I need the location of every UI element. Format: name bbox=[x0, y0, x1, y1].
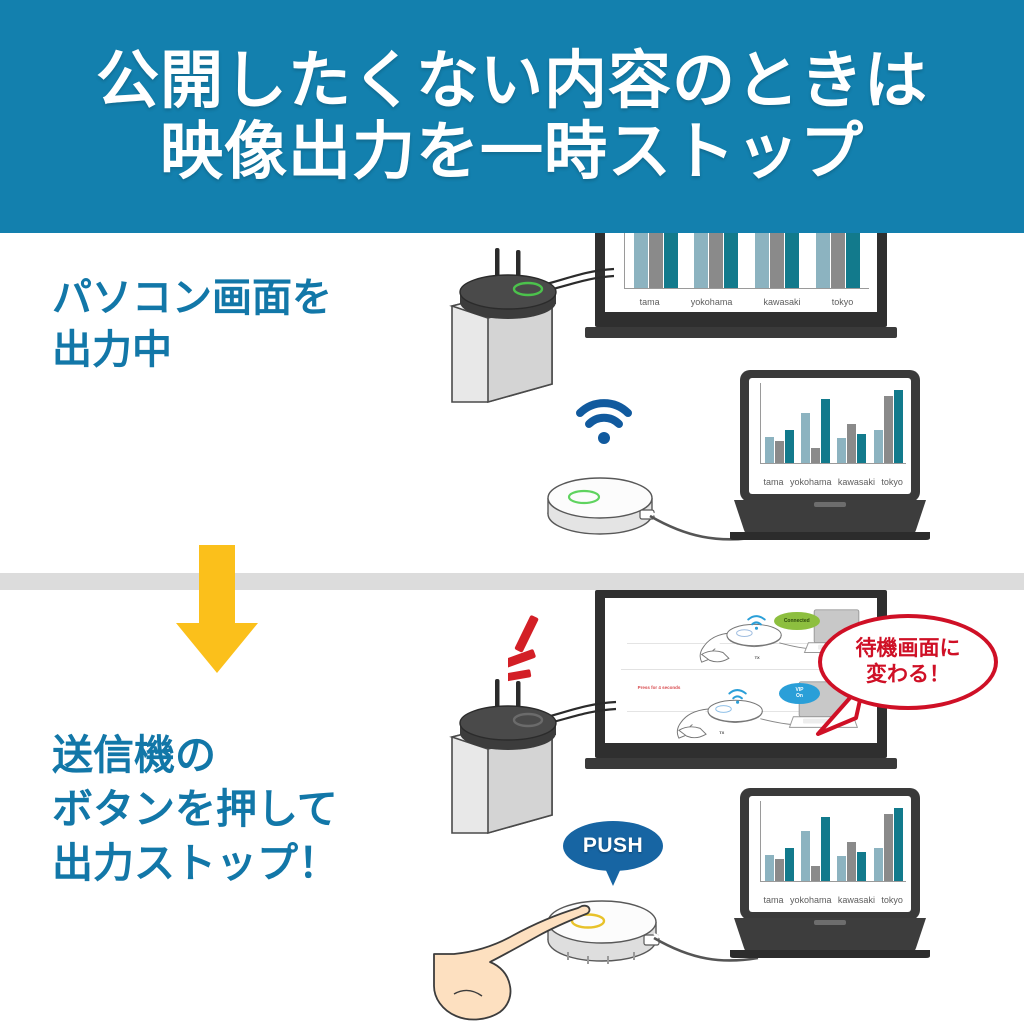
chart-x-tick-label: tokyo bbox=[881, 477, 903, 487]
chart-plot-area bbox=[760, 801, 906, 882]
badge-connected-label: Connected bbox=[784, 619, 810, 624]
chart-x-tick-label: tama bbox=[764, 477, 784, 487]
chart-bar bbox=[821, 817, 830, 880]
chart-bar bbox=[649, 228, 663, 289]
caption-top-line-2: 出力中 bbox=[52, 324, 332, 376]
projection-screen-stand bbox=[585, 327, 897, 338]
chart-bar bbox=[765, 855, 774, 881]
chart-bar bbox=[884, 396, 893, 463]
section-divider bbox=[0, 573, 1024, 590]
red-speech-bubble: 待機画面に 変わる！ bbox=[818, 614, 998, 710]
chart-bar bbox=[837, 856, 846, 881]
chart-bar-group bbox=[837, 383, 866, 463]
chart-bar bbox=[857, 852, 866, 881]
chart-plot-area bbox=[624, 228, 869, 290]
push-bubble: PUSH bbox=[563, 821, 663, 871]
caption-top-line-1: パソコン画面を bbox=[52, 272, 332, 324]
laptop-display-bottom: tamayokohamakawasakitokyo bbox=[749, 796, 911, 912]
laptop-display-top: tamayokohamakawasakitokyo bbox=[749, 378, 911, 494]
chart-x-tick-label: yokohama bbox=[790, 477, 832, 487]
chart-bar-group bbox=[801, 801, 830, 881]
chart-bar-group bbox=[874, 801, 903, 881]
chart-bar bbox=[847, 842, 856, 881]
chart-bar bbox=[884, 814, 893, 881]
chart-bar-group bbox=[765, 801, 794, 881]
chart-x-tick-label: tokyo bbox=[832, 297, 854, 307]
laptop-bar-chart: tamayokohamakawasakitokyo bbox=[749, 796, 911, 912]
chart-x-tick-label: tama bbox=[640, 297, 660, 307]
chart-bar bbox=[831, 228, 845, 289]
chart-bar-group bbox=[874, 383, 903, 463]
chart-x-tick-label: tama bbox=[764, 895, 784, 905]
caption-bottom-line-2: ボタンを押して bbox=[52, 782, 339, 836]
chart-bar bbox=[709, 228, 723, 289]
chart-x-tick-label: kawasaki bbox=[764, 297, 801, 307]
header-title-line-2: 映像出力を一時ストップ bbox=[160, 117, 864, 188]
infographic-page: 公開したくない内容のときは 映像出力を一時ストップ パソコン画面を 出力中 送信… bbox=[0, 0, 1024, 1024]
chart-bar bbox=[894, 390, 903, 463]
chart-bar bbox=[664, 228, 678, 289]
scene-output-active: tamayokohamakawasakitokyo bbox=[430, 232, 1024, 574]
chart-bar bbox=[775, 859, 784, 881]
push-bubble-label: PUSH bbox=[583, 834, 643, 858]
red-bubble-line-2: 変わる！ bbox=[866, 662, 950, 688]
badge-vip-line-2: On bbox=[796, 694, 803, 700]
chart-bar bbox=[775, 441, 784, 463]
caption-top: パソコン画面を 出力中 bbox=[52, 272, 332, 376]
laptop-base bbox=[730, 916, 930, 958]
laptop-bottom: tamayokohamakawasakitokyo bbox=[730, 788, 930, 978]
caption-bottom-line-3: 出力ストップ！ bbox=[52, 836, 339, 890]
badge-connected: Connected bbox=[774, 612, 820, 630]
caption-bottom: 送信機の ボタンを押して 出力ストップ！ bbox=[52, 728, 339, 890]
chart-x-tick-label: yokohama bbox=[691, 297, 733, 307]
laptop-bar-chart: tamayokohamakawasakitokyo bbox=[749, 378, 911, 494]
pointing-hand-icon bbox=[430, 890, 620, 1024]
laptop-top: tamayokohamakawasakitokyo bbox=[730, 370, 930, 560]
red-bubble-line-1: 待機画面に bbox=[856, 636, 961, 662]
chart-bar bbox=[785, 848, 794, 881]
tx-tag-top: TX bbox=[755, 655, 760, 660]
header-title-line-1: 公開したくない内容のときは bbox=[96, 46, 928, 117]
chart-bar bbox=[770, 228, 784, 289]
chart-bar-group bbox=[765, 383, 794, 463]
step-arrow-icon bbox=[172, 545, 262, 675]
projection-screen-surface: tamayokohamakawasakitokyo bbox=[605, 224, 877, 312]
chart-bar-group bbox=[837, 801, 866, 881]
chart-bar bbox=[874, 848, 883, 881]
chart-bar bbox=[755, 228, 769, 289]
chart-bar bbox=[801, 413, 810, 463]
chart-bar bbox=[811, 866, 820, 880]
chart-bar-group bbox=[801, 383, 830, 463]
chart-bar bbox=[694, 228, 708, 289]
screen-bar-chart: tamayokohamakawasakitokyo bbox=[605, 224, 877, 312]
chart-bar bbox=[847, 424, 856, 463]
chart-x-tick-label: yokohama bbox=[790, 895, 832, 905]
chart-bar bbox=[837, 438, 846, 463]
chart-bar bbox=[816, 228, 830, 289]
projection-screen-stand bbox=[585, 758, 897, 769]
caption-bottom-line-1: 送信機の bbox=[52, 728, 339, 782]
chart-bar-group bbox=[634, 228, 678, 289]
chart-bar bbox=[811, 448, 820, 462]
chart-bar-group bbox=[816, 228, 860, 289]
header-banner: 公開したくない内容のときは 映像出力を一時ストップ bbox=[0, 0, 1024, 233]
chart-bar bbox=[634, 228, 648, 289]
laptop-base bbox=[730, 498, 930, 540]
chart-bar bbox=[785, 430, 794, 463]
chart-bar bbox=[894, 808, 903, 881]
chart-x-tick-label: tokyo bbox=[881, 895, 903, 905]
chart-bar-group bbox=[755, 228, 799, 289]
wifi-icon bbox=[575, 397, 633, 445]
chart-bar bbox=[874, 430, 883, 463]
chart-bar bbox=[801, 831, 810, 881]
chart-bar bbox=[857, 434, 866, 463]
chart-bar bbox=[785, 228, 799, 289]
chart-bar bbox=[846, 228, 860, 289]
chart-bar bbox=[765, 437, 774, 463]
tx-tag-bottom: TX bbox=[719, 730, 724, 735]
chart-plot-area bbox=[760, 383, 906, 464]
chart-bar-group bbox=[694, 228, 738, 289]
chart-bar bbox=[724, 228, 738, 289]
chart-bar bbox=[821, 399, 830, 462]
chart-x-tick-labels: tamayokohamakawasakitokyo bbox=[760, 477, 906, 487]
chart-x-tick-labels: tamayokohamakawasakitokyo bbox=[624, 297, 869, 307]
chart-x-tick-labels: tamayokohamakawasakitokyo bbox=[760, 895, 906, 905]
hint-press-4-seconds: Press for 4 seconds bbox=[638, 685, 681, 690]
chart-x-tick-label: kawasaki bbox=[838, 477, 875, 487]
chart-x-tick-label: kawasaki bbox=[838, 895, 875, 905]
